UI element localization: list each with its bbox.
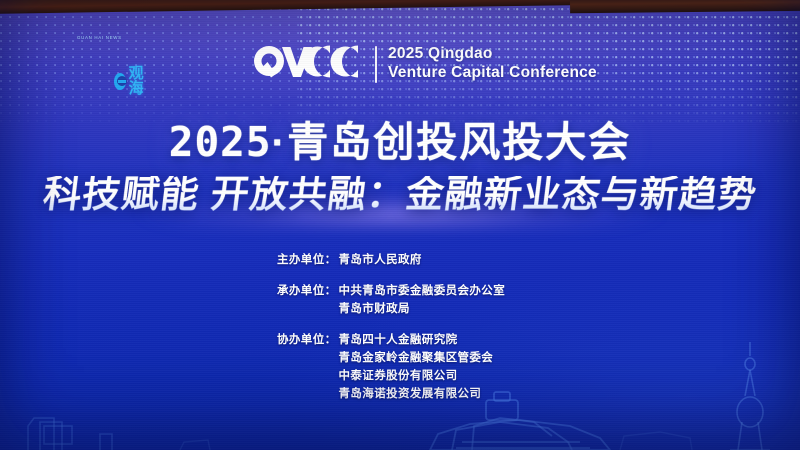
qvcc-wordmark-icon: [252, 44, 364, 84]
organizer-label: 主办单位：: [277, 251, 337, 269]
organizer-list: 主办单位： 青岛市人民政府 承办单位： 中共青岛市委金融委员会办公室 青岛市财政…: [277, 251, 505, 403]
organizer-value: 青岛市人民政府: [339, 251, 506, 269]
main-title-separator: ·: [272, 119, 288, 165]
organizer-values: 青岛四十人金融研究院 青岛金家岭金融聚集区管委会 中泰证券股份有限公司 青岛海诺…: [339, 331, 506, 403]
qvcc-lockup: 2025 Qingdao Venture Capital Conference: [252, 44, 597, 84]
organizer-value: 青岛四十人金融研究院: [339, 331, 506, 349]
organizer-row: 协办单位： 青岛四十人金融研究院 青岛金家岭金融聚集区管委会 中泰证券股份有限公…: [277, 331, 505, 403]
organizer-value: 中共青岛市委金融委员会办公室: [339, 282, 506, 300]
guanhai-logo[interactable]: 观海 GUAN HAI NEWS: [57, 33, 122, 40]
organizer-value: 青岛海诺投资发展有限公司: [339, 385, 506, 403]
organizer-row: 主办单位： 青岛市人民政府: [277, 251, 505, 269]
main-title-year: 2025: [169, 118, 272, 166]
organizer-label: 承办单位：: [277, 282, 337, 300]
main-title: 2025·青岛创投风投大会: [0, 122, 800, 163]
qvcc-english-block: 2025 Qingdao Venture Capital Conference: [388, 45, 597, 83]
guanhai-logo-pinyin: GUAN HAI NEWS: [77, 35, 122, 40]
qvcc-english-line2: Venture Capital Conference: [388, 64, 597, 83]
qvcc-english-line1: 2025 Qingdao: [388, 45, 597, 64]
main-title-text: 青岛创投风投大会: [287, 119, 631, 165]
organizer-value: 中泰证券股份有限公司: [339, 367, 506, 385]
organizer-values: 中共青岛市委金融委员会办公室 青岛市财政局: [339, 282, 506, 318]
g-circle-icon: [114, 73, 126, 90]
guanhai-logo-inner: 观海: [114, 66, 149, 96]
organizer-value: 青岛金家岭金融聚集区管委会: [339, 349, 506, 367]
qvcc-divider: [375, 46, 377, 83]
organizer-label: 协办单位：: [277, 331, 337, 349]
organizer-values: 青岛市人民政府: [339, 251, 506, 269]
organizer-value: 青岛市财政局: [339, 300, 506, 318]
organizer-row: 承办单位： 中共青岛市委金融委员会办公室 青岛市财政局: [277, 282, 505, 318]
guanhai-logo-name: 观海: [129, 66, 149, 96]
subtitle: 科技赋能 开放共融：金融新业态与新趋势: [0, 176, 800, 216]
conference-backdrop-screen: 观海 GUAN HAI NEWS 2025 Qingdao Venture Ca…: [0, 0, 800, 450]
